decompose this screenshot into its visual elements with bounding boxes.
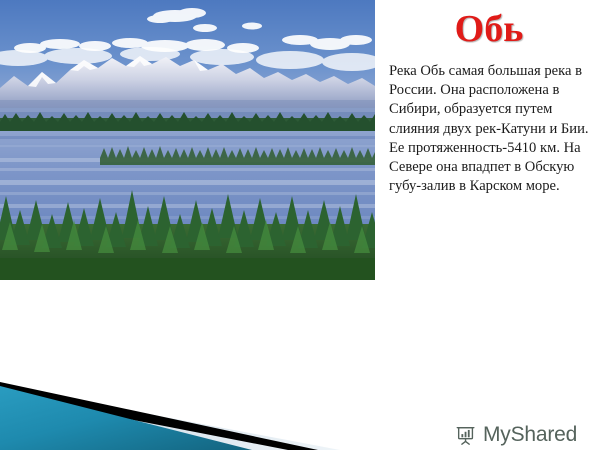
slide-photo [0, 0, 375, 280]
myshared-logo[interactable]: MyShared [455, 424, 577, 446]
presentation-chart-icon [455, 424, 477, 446]
page-title: Обь [383, 6, 595, 52]
myshared-logo-text: MyShared [483, 424, 577, 446]
slide-body-text: Река Обь самая большая река в России. Он… [389, 62, 595, 196]
photo-illustration [0, 0, 375, 280]
chart-bars [461, 430, 469, 437]
